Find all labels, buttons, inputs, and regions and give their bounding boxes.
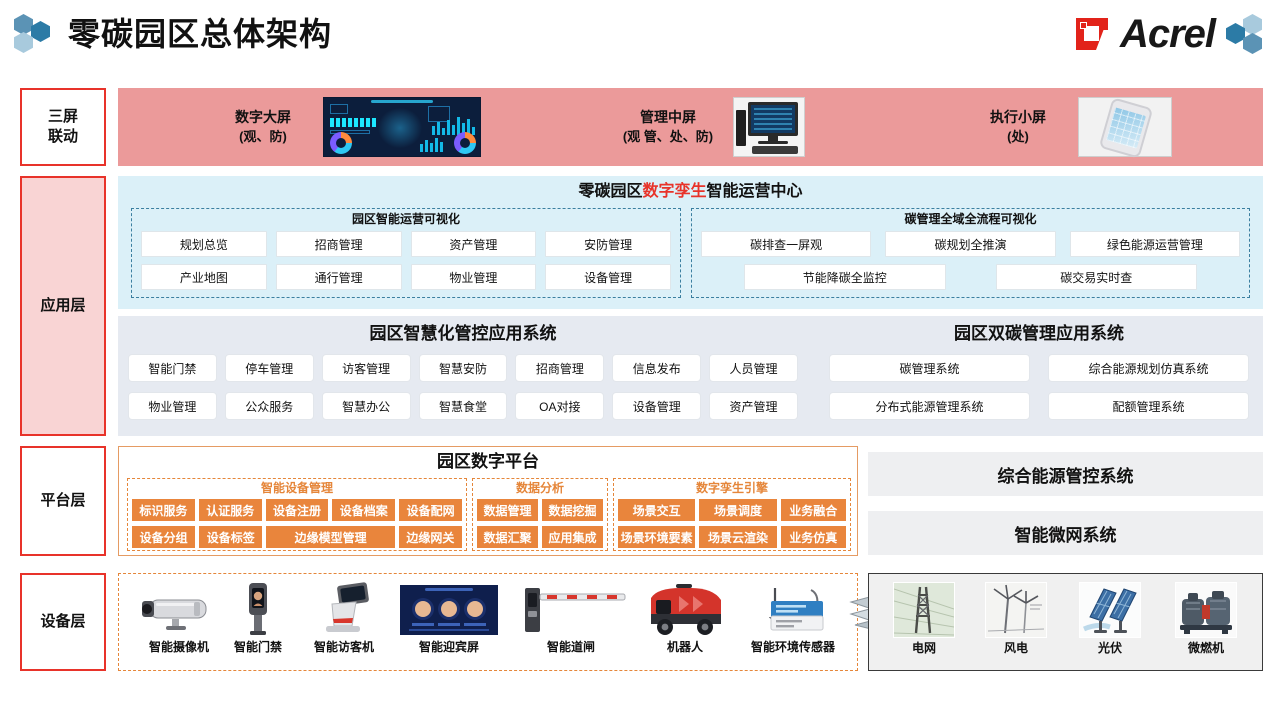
device-label: 智能摄像机 bbox=[133, 638, 225, 655]
park-operation-row-1: 规划总览 招商管理 资产管理 安防管理 bbox=[141, 231, 671, 257]
park-op-item[interactable]: 物业管理 bbox=[411, 264, 537, 290]
smart-control-item[interactable]: 公众服务 bbox=[225, 392, 314, 420]
smart-control-item[interactable]: 设备管理 bbox=[612, 392, 701, 420]
smart-control-item[interactable]: 信息发布 bbox=[612, 354, 701, 382]
dtc-title-post: 智能运营中心 bbox=[707, 183, 803, 200]
park-op-item[interactable]: 规划总览 bbox=[141, 231, 267, 257]
energy-item-grid[interactable]: 电网 bbox=[883, 582, 965, 656]
digital-twin-engine-section: 数字孪生引擎 场景交互 场景调度 业务融合 场景环境要素 场景云渲染 业务仿真 bbox=[613, 478, 851, 551]
data-analysis-title: 数据分析 bbox=[473, 479, 607, 496]
smart-device-row-2: 设备分组 设备标签 边缘模型管理 边缘网关 bbox=[131, 525, 463, 549]
dual-carbon-item[interactable]: 分布式能源管理系统 bbox=[829, 392, 1030, 420]
smart-device-mgmt-title: 智能设备管理 bbox=[128, 479, 466, 496]
smart-control-item[interactable]: 人员管理 bbox=[709, 354, 798, 382]
digital-twin-engine-title: 数字孪生引擎 bbox=[614, 479, 850, 496]
smart-control-item[interactable]: 资产管理 bbox=[709, 392, 798, 420]
brand-logo: Acrel bbox=[1074, 8, 1265, 60]
dtc-title-red: 数字孪生 bbox=[642, 183, 706, 200]
data-analysis-item[interactable]: 数据管理 bbox=[476, 498, 539, 522]
screen-item-small[interactable]: 执行小屏 (处) bbox=[958, 88, 1172, 166]
data-analysis-item[interactable]: 应用集成 bbox=[541, 525, 604, 549]
robot-icon bbox=[639, 578, 731, 636]
data-analysis-item[interactable]: 数据汇聚 bbox=[476, 525, 539, 549]
dual-carbon-system-title: 园区双碳管理应用系统 bbox=[815, 316, 1263, 345]
acrel-square-logo-icon bbox=[1074, 16, 1110, 52]
smart-control-item[interactable]: 招商管理 bbox=[515, 354, 604, 382]
energy-item-micro-turbine[interactable]: 微燃机 bbox=[1165, 582, 1247, 656]
page-header: 零碳园区总体架构 Acrel bbox=[0, 0, 1281, 72]
wind-turbine-icon bbox=[985, 582, 1047, 638]
device-item-robot[interactable]: 机器人 bbox=[639, 578, 731, 655]
mobile-phone-icon bbox=[1078, 97, 1172, 157]
device-label: 智能迎宾屏 bbox=[397, 638, 501, 655]
screen-name-mid: 管理中屏 bbox=[603, 107, 733, 127]
smart-control-item[interactable]: 智慧办公 bbox=[322, 392, 411, 420]
park-op-item[interactable]: 安防管理 bbox=[545, 231, 671, 257]
carbon-item[interactable]: 绿色能源运营管理 bbox=[1070, 231, 1240, 257]
integrated-energy-control-system[interactable]: 综合能源管控系统 bbox=[868, 452, 1263, 496]
data-analysis-item[interactable]: 数据挖掘 bbox=[541, 498, 604, 522]
smart-microgrid-system[interactable]: 智能微网系统 bbox=[868, 511, 1263, 555]
layer-label-platform: 平台层 bbox=[20, 446, 106, 556]
visitor-kiosk-icon bbox=[297, 578, 391, 636]
park-op-item[interactable]: 产业地图 bbox=[141, 264, 267, 290]
twin-engine-item[interactable]: 业务仿真 bbox=[780, 525, 847, 549]
desktop-monitor-icon bbox=[733, 97, 805, 157]
carbon-management-visualization-title: 碳管理全域全流程可视化 bbox=[692, 209, 1249, 230]
energy-label: 光伏 bbox=[1069, 639, 1151, 656]
smart-control-item[interactable]: 智慧安防 bbox=[419, 354, 508, 382]
environment-sensor-icon bbox=[731, 578, 855, 636]
park-op-item[interactable]: 招商管理 bbox=[276, 231, 402, 257]
dual-carbon-item[interactable]: 配额管理系统 bbox=[1048, 392, 1249, 420]
smart-control-item[interactable]: 停车管理 bbox=[225, 354, 314, 382]
smart-control-item[interactable]: 智能门禁 bbox=[128, 354, 217, 382]
park-op-item[interactable]: 资产管理 bbox=[411, 231, 537, 257]
device-mgmt-item[interactable]: 边缘模型管理 bbox=[265, 525, 395, 549]
carbon-item[interactable]: 碳交易实时查 bbox=[996, 264, 1198, 290]
park-operation-row-2: 产业地图 通行管理 物业管理 设备管理 bbox=[141, 264, 671, 290]
carbon-mgmt-row-2: 节能降碳全监控 碳交易实时查 bbox=[744, 264, 1197, 290]
dashboard-big-screen-icon bbox=[323, 97, 481, 157]
smart-control-system-title: 园区智慧化管控应用系统 bbox=[118, 316, 808, 345]
digital-twin-center-title: 零碳园区数字孪生智能运营中心 bbox=[118, 176, 1263, 202]
device-label: 智能门禁 bbox=[223, 638, 293, 655]
device-label: 智能环境传感器 bbox=[731, 638, 855, 655]
layer-label-screens-line1: 三屏 bbox=[48, 107, 78, 127]
carbon-item[interactable]: 节能降碳全监控 bbox=[744, 264, 946, 290]
device-mgmt-item[interactable]: 设备配网 bbox=[398, 498, 463, 522]
layer-label-application: 应用层 bbox=[20, 176, 106, 436]
device-item-access[interactable]: 智能门禁 bbox=[223, 578, 293, 655]
power-grid-icon bbox=[893, 582, 955, 638]
twin-engine-item[interactable]: 场景调度 bbox=[698, 498, 777, 522]
device-item-visitor[interactable]: 智能访客机 bbox=[297, 578, 391, 655]
device-item-env-sensor[interactable]: 智能环境传感器 bbox=[731, 578, 855, 655]
solar-panel-icon bbox=[1079, 582, 1141, 638]
barrier-gate-icon bbox=[511, 578, 631, 636]
screen-sub-big: (观、防) bbox=[203, 127, 323, 147]
device-label: 智能道闸 bbox=[511, 638, 631, 655]
park-op-item[interactable]: 通行管理 bbox=[276, 264, 402, 290]
screen-item-big[interactable]: 数字大屏 (观、防) bbox=[203, 88, 481, 166]
twin-engine-item[interactable]: 场景云渲染 bbox=[698, 525, 777, 549]
park-operation-visualization-title: 园区智能运营可视化 bbox=[132, 209, 680, 230]
data-analysis-row-1: 数据管理 数据挖掘 bbox=[476, 498, 604, 522]
digital-twin-center-panel: 零碳园区数字孪生智能运营中心 园区智能运营可视化 规划总览 招商管理 资产管理 … bbox=[118, 176, 1263, 309]
device-mgmt-item[interactable]: 边缘网关 bbox=[398, 525, 463, 549]
smart-control-row-2: 物业管理 公众服务 智慧办公 智慧食堂 OA对接 设备管理 资产管理 bbox=[128, 392, 798, 420]
hexagon-decoration-right-icon bbox=[1225, 14, 1265, 54]
smart-control-item[interactable]: OA对接 bbox=[515, 392, 604, 420]
dual-carbon-item[interactable]: 综合能源规划仿真系统 bbox=[1048, 354, 1249, 382]
application-systems-band: 园区智慧化管控应用系统 智能门禁 停车管理 访客管理 智慧安防 招商管理 信息发… bbox=[118, 316, 1263, 436]
dual-carbon-row-1: 碳管理系统 综合能源规划仿真系统 bbox=[829, 354, 1249, 382]
park-op-item[interactable]: 设备管理 bbox=[545, 264, 671, 290]
park-operation-visualization-panel: 园区智能运营可视化 规划总览 招商管理 资产管理 安防管理 产业地图 通行管理 … bbox=[131, 208, 681, 298]
access-control-terminal-icon bbox=[223, 578, 293, 636]
architecture-diagram: 零碳园区总体架构 Acrel 三屏 联动 应用层 平台层 设备层 bbox=[0, 0, 1281, 703]
carbon-item[interactable]: 碳规划全推演 bbox=[885, 231, 1055, 257]
data-analysis-section: 数据分析 数据管理 数据挖掘 数据汇聚 应用集成 bbox=[472, 478, 608, 551]
energy-item-wind[interactable]: 风电 bbox=[975, 582, 1057, 656]
screen-sub-mid: (观 管、处、防) bbox=[603, 127, 733, 147]
smart-control-row-1: 智能门禁 停车管理 访客管理 智慧安防 招商管理 信息发布 人员管理 bbox=[128, 354, 798, 382]
device-item-camera[interactable]: 智能摄像机 bbox=[133, 578, 225, 655]
data-analysis-row-2: 数据汇聚 应用集成 bbox=[476, 525, 604, 549]
device-label: 智能访客机 bbox=[297, 638, 391, 655]
brand-name: Acrel bbox=[1120, 14, 1215, 54]
device-item-welcome-display[interactable]: 智能迎宾屏 bbox=[397, 578, 501, 655]
device-mgmt-item[interactable]: 认证服务 bbox=[198, 498, 263, 522]
device-item-barrier-gate[interactable]: 智能道闸 bbox=[511, 578, 631, 655]
digital-twin-row-2: 场景环境要素 场景云渲染 业务仿真 bbox=[617, 525, 847, 549]
carbon-mgmt-row-1: 碳排查一屏观 碳规划全推演 绿色能源运营管理 bbox=[701, 231, 1240, 257]
digital-platform-title: 园区数字平台 bbox=[119, 447, 857, 473]
smart-control-item[interactable]: 智慧食堂 bbox=[419, 392, 508, 420]
three-screen-band: 数字大屏 (观、防) bbox=[118, 88, 1263, 166]
dual-carbon-row-2: 分布式能源管理系统 配额管理系统 bbox=[829, 392, 1249, 420]
device-mgmt-item[interactable]: 设备档案 bbox=[331, 498, 396, 522]
energy-item-solar[interactable]: 光伏 bbox=[1069, 582, 1151, 656]
dual-carbon-system-group: 园区双碳管理应用系统 碳管理系统 综合能源规划仿真系统 分布式能源管理系统 配额… bbox=[815, 316, 1263, 436]
energy-label: 电网 bbox=[883, 639, 965, 656]
device-layer-panel: 智能摄像机 智能门禁 bbox=[118, 573, 858, 671]
screen-name-small: 执行小屏 bbox=[958, 107, 1078, 127]
screen-name-big: 数字大屏 bbox=[203, 107, 323, 127]
dtc-title-pre: 零碳园区 bbox=[578, 183, 642, 200]
dual-carbon-item[interactable]: 碳管理系统 bbox=[829, 354, 1030, 382]
carbon-management-visualization-panel: 碳管理全域全流程可视化 碳排查一屏观 碳规划全推演 绿色能源运营管理 节能降碳全… bbox=[691, 208, 1250, 298]
smart-device-mgmt-section: 智能设备管理 标识服务 认证服务 设备注册 设备档案 设备配网 设备分组 设备标… bbox=[127, 478, 467, 551]
energy-sources-panel: 电网 风电 bbox=[868, 573, 1263, 671]
smart-control-item[interactable]: 物业管理 bbox=[128, 392, 217, 420]
device-mgmt-item[interactable]: 设备注册 bbox=[265, 498, 330, 522]
layer-label-screens: 三屏 联动 bbox=[20, 88, 106, 166]
micro-turbine-icon bbox=[1175, 582, 1237, 638]
energy-label: 风电 bbox=[975, 639, 1057, 656]
screen-item-mid[interactable]: 管理中屏 (观 管、处、防) bbox=[603, 88, 805, 166]
smart-device-row-1: 标识服务 认证服务 设备注册 设备档案 设备配网 bbox=[131, 498, 463, 522]
carbon-item[interactable]: 碳排查一屏观 bbox=[701, 231, 871, 257]
layer-label-device: 设备层 bbox=[20, 573, 106, 671]
layer-label-screens-line2: 联动 bbox=[48, 127, 78, 147]
screen-sub-small: (处) bbox=[958, 127, 1078, 147]
twin-engine-item[interactable]: 业务融合 bbox=[780, 498, 847, 522]
page-title: 零碳园区总体架构 bbox=[68, 12, 332, 56]
device-mgmt-item[interactable]: 设备分组 bbox=[131, 525, 196, 549]
device-mgmt-item[interactable]: 标识服务 bbox=[131, 498, 196, 522]
twin-engine-item[interactable]: 场景环境要素 bbox=[617, 525, 696, 549]
digital-platform-panel: 园区数字平台 智能设备管理 标识服务 认证服务 设备注册 设备档案 设备配网 设… bbox=[118, 446, 858, 556]
device-mgmt-item[interactable]: 设备标签 bbox=[198, 525, 263, 549]
hexagon-decoration-icon bbox=[14, 12, 60, 56]
energy-label: 微燃机 bbox=[1165, 639, 1247, 656]
smart-control-system-group: 园区智慧化管控应用系统 智能门禁 停车管理 访客管理 智慧安防 招商管理 信息发… bbox=[118, 316, 808, 436]
device-label: 机器人 bbox=[639, 638, 731, 655]
cctv-camera-icon bbox=[133, 578, 225, 636]
digital-twin-row-1: 场景交互 场景调度 业务融合 bbox=[617, 498, 847, 522]
twin-engine-item[interactable]: 场景交互 bbox=[617, 498, 696, 522]
welcome-display-icon bbox=[397, 578, 501, 636]
smart-control-item[interactable]: 访客管理 bbox=[322, 354, 411, 382]
